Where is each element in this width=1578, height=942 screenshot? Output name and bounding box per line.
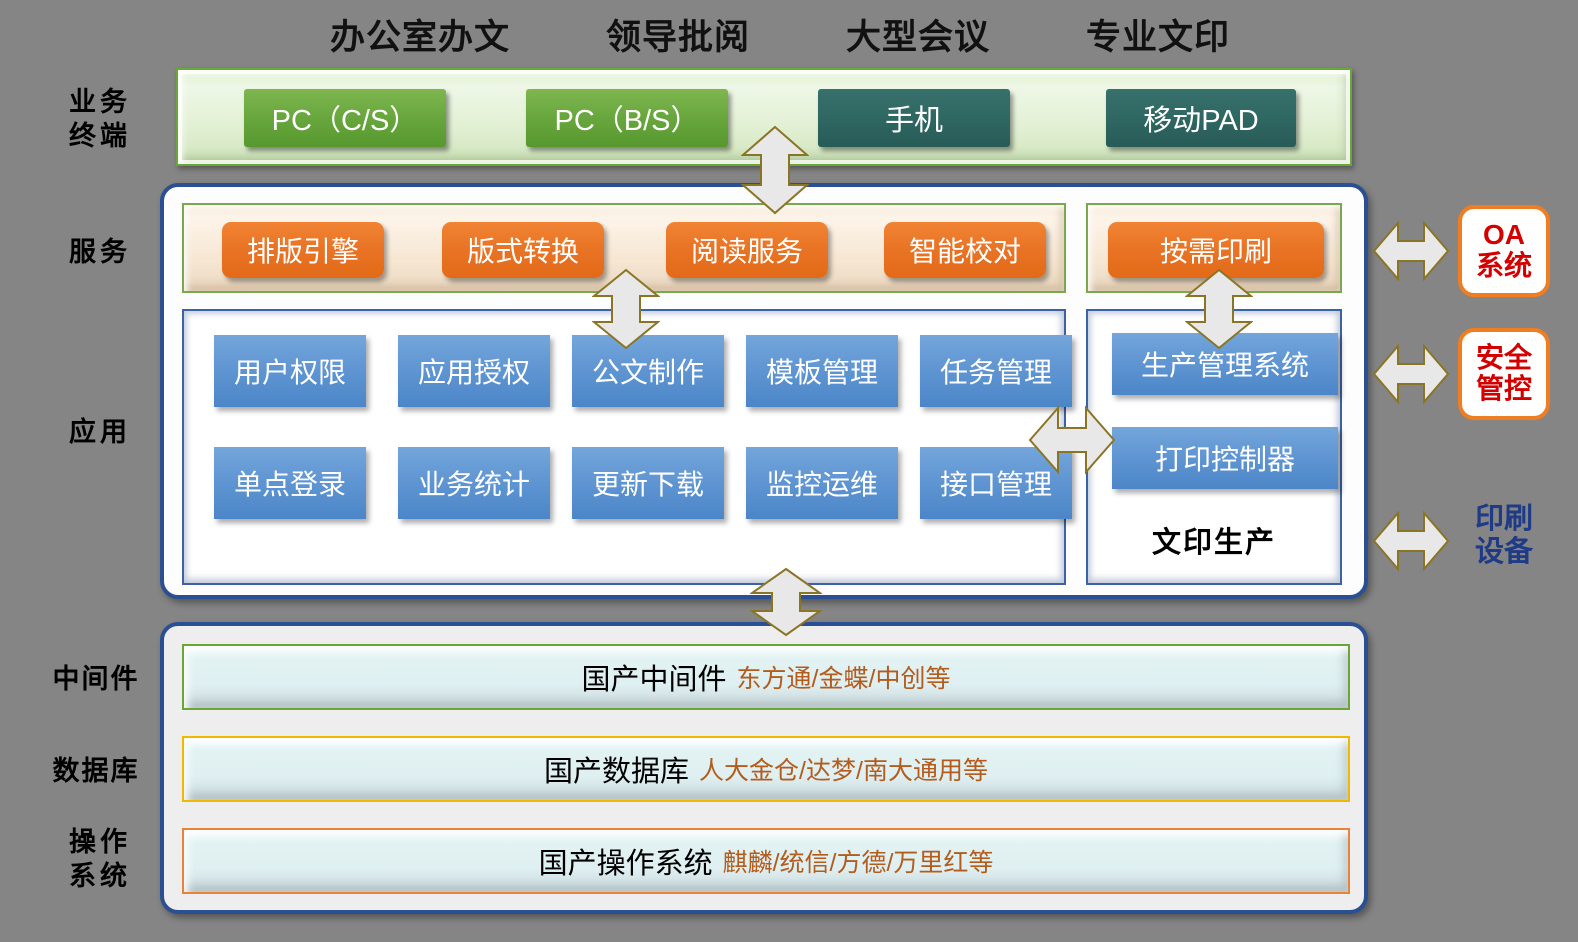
side-badge-oa-system[interactable]: OA 系统: [1458, 205, 1550, 297]
arrow-application-infrastructure: [750, 567, 822, 637]
terminal-item-mobile-pad[interactable]: 移动PAD: [1106, 89, 1296, 147]
terminal-item-pc-cs[interactable]: PC（C/S）: [244, 89, 446, 147]
app-item-single-sign-on[interactable]: 单点登录: [214, 447, 366, 519]
application-layer-panel: 用户权限 应用授权 公文制作 模板管理 任务管理 单点登录 业务统计 更新下载 …: [182, 309, 1066, 585]
service-item-format-conversion[interactable]: 版式转换: [442, 222, 604, 278]
scenario-title-2: 领导批阅: [606, 9, 750, 60]
stack-bar-middleware: 国产中间件 东方通/金蝶/中创等: [182, 644, 1350, 710]
terminal-item-mobile-phone[interactable]: 手机: [818, 89, 1010, 147]
row-label-service: 服务: [40, 236, 160, 270]
app-item-user-permission[interactable]: 用户权限: [214, 335, 366, 407]
stack-bar-database: 国产数据库 人大金仓/达梦/南大通用等: [182, 736, 1350, 802]
service-item-typesetting-engine[interactable]: 排版引擎: [222, 222, 384, 278]
app-item-update-download[interactable]: 更新下载: [572, 447, 724, 519]
stack-sub-os: 麒麟/统信/方德/万里红等: [723, 843, 994, 879]
print-production-panel: 生产管理系统 打印控制器 文印生产: [1086, 309, 1342, 585]
side-label-printing-equipment: 印刷 设备: [1454, 502, 1554, 569]
row-label-database: 数据库: [36, 755, 156, 789]
arrow-production-printing-equipment: [1372, 505, 1450, 577]
app-item-app-authorization[interactable]: 应用授权: [398, 335, 550, 407]
stack-main-os: 国产操作系统: [539, 840, 713, 882]
infrastructure-container: 国产中间件 东方通/金蝶/中创等 国产数据库 人大金仓/达梦/南大通用等 国产操…: [160, 622, 1368, 914]
app-item-template-management[interactable]: 模板管理: [746, 335, 898, 407]
app-item-monitoring-ops[interactable]: 监控运维: [746, 447, 898, 519]
stack-bar-os: 国产操作系统 麒麟/统信/方德/万里红等: [182, 828, 1350, 894]
architecture-diagram: 办公室办文 领导批阅 大型会议 专业文印 业务 终端 服务 应用 中间件 数据库…: [0, 0, 1578, 942]
platform-container: 排版引擎 版式转换 阅读服务 智能校对 按需印刷 用户权限 应用授权 公文制作 …: [160, 183, 1368, 599]
arrow-service-application: [592, 268, 660, 350]
stack-main-database: 国产数据库: [544, 748, 689, 790]
scenario-title-1: 办公室办文: [330, 9, 510, 60]
arrow-service-oa: [1372, 215, 1450, 287]
service-item-reading-service[interactable]: 阅读服务: [666, 222, 828, 278]
side-badge-security-control[interactable]: 安全 管控: [1458, 328, 1550, 420]
app-item-business-statistics[interactable]: 业务统计: [398, 447, 550, 519]
stack-sub-middleware: 东方通/金蝶/中创等: [737, 659, 951, 695]
arrow-print-service-production: [1185, 268, 1253, 350]
arrow-application-production: [1028, 398, 1116, 482]
print-production-caption: 文印生产: [1088, 519, 1340, 561]
stack-main-middleware: 国产中间件: [582, 656, 727, 698]
app-item-task-management[interactable]: 任务管理: [920, 335, 1072, 407]
service-item-smart-proofreading[interactable]: 智能校对: [884, 222, 1046, 278]
scenario-title-3: 大型会议: [846, 9, 990, 60]
row-label-os: 操作 系统: [40, 826, 160, 894]
app-item-print-controller[interactable]: 打印控制器: [1112, 427, 1338, 489]
stack-sub-database: 人大金仓/达梦/南大通用等: [699, 751, 988, 787]
row-label-application: 应用: [40, 416, 160, 450]
arrow-terminal-service: [741, 125, 809, 215]
row-label-terminal: 业务 终端: [40, 86, 160, 154]
row-label-middleware: 中间件: [36, 663, 156, 697]
terminal-item-pc-bs[interactable]: PC（B/S）: [526, 89, 728, 147]
scenario-title-row: 办公室办文 领导批阅 大型会议 专业文印: [330, 8, 1230, 60]
scenario-title-4: 专业文印: [1086, 9, 1230, 60]
arrow-production-security: [1372, 338, 1450, 410]
